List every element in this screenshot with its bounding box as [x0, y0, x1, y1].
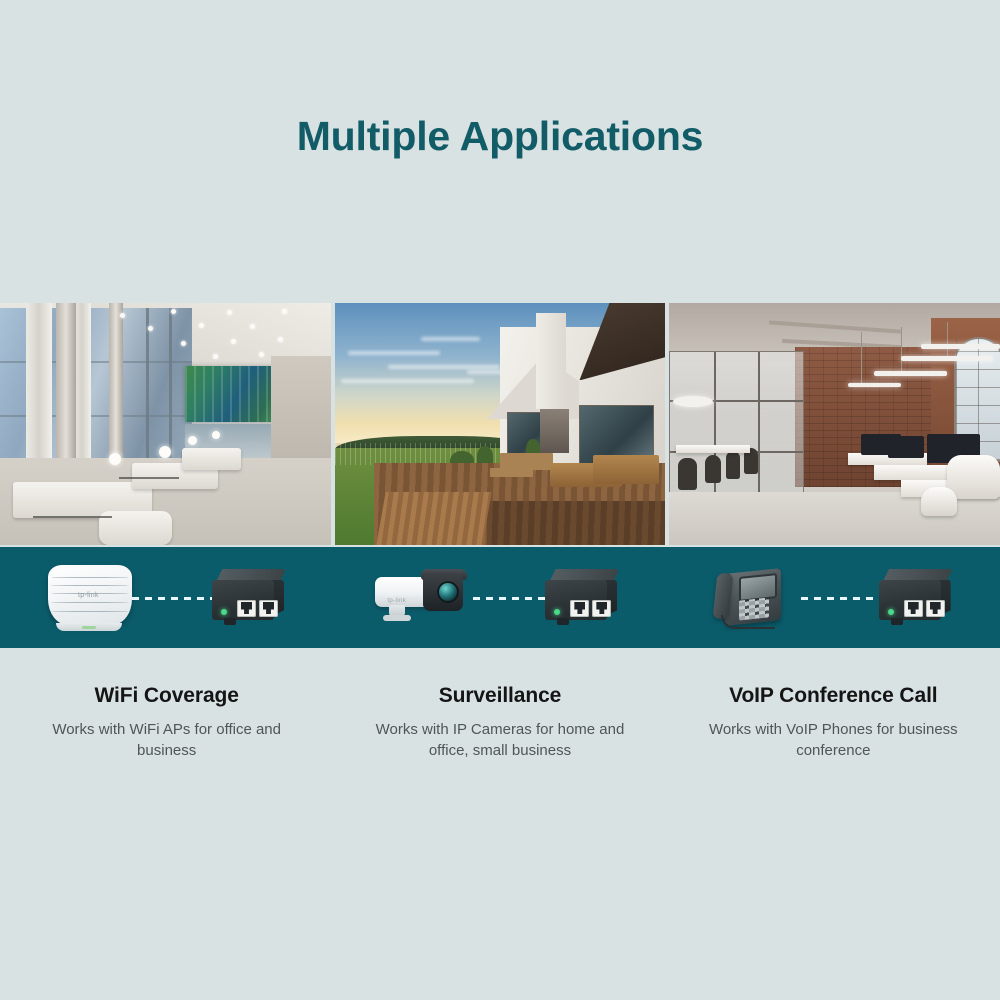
- rj45-port-out-1: [259, 600, 278, 617]
- caption-voip-conference-call: VoIP Conference Call Works with VoIP Pho…: [667, 648, 1000, 808]
- page-title: Multiple Applications: [0, 112, 1000, 161]
- poe-injector-3: [879, 569, 953, 623]
- ip-bullet-camera: tp-link: [375, 567, 471, 623]
- tp-link-logo-camera: tp-link: [387, 598, 406, 604]
- poe-power-led-2: [554, 609, 560, 615]
- caption-heading: VoIP Conference Call: [667, 684, 1000, 708]
- ap-status-led: [82, 626, 96, 629]
- glass-meeting-room: [669, 351, 803, 513]
- deck-steps: [376, 492, 491, 545]
- caption-surveillance: Surveillance Works with IP Cameras for h…: [333, 648, 666, 808]
- tp-link-logo-ap: tp-link: [78, 592, 102, 601]
- ethernet-link-3: [801, 597, 885, 600]
- caption-heading: WiFi Coverage: [0, 684, 333, 708]
- caption-body: Works with VoIP Phones for business conf…: [698, 720, 968, 761]
- caption-body: Works with IP Cameras for home and offic…: [365, 720, 635, 761]
- caption-body: Works with WiFi APs for office and busin…: [32, 720, 302, 761]
- deck-lower: [487, 501, 666, 545]
- caption-row: WiFi Coverage Works with WiFi APs for of…: [0, 648, 1000, 808]
- rj45-port-in-3: [904, 600, 923, 617]
- poe-injector-2: [545, 569, 619, 623]
- ethernet-link-1: [132, 597, 218, 600]
- caption-wifi-coverage: WiFi Coverage Works with WiFi APs for of…: [0, 648, 333, 808]
- lobby-ceiling-lights: [93, 308, 324, 390]
- house-deck-photo: [335, 303, 666, 545]
- ethernet-link-2: [473, 597, 551, 600]
- rj45-port-out-2: [592, 600, 611, 617]
- ceiling-wifi-access-point: tp-link: [48, 565, 132, 631]
- poe-power-led-3: [888, 609, 894, 615]
- rj45-port-in-2: [570, 600, 589, 617]
- diagram-ip-camera: tp-link: [333, 547, 666, 648]
- poe-injector-1: [212, 569, 286, 623]
- rj45-port-in-1: [237, 600, 256, 617]
- voip-desk-phone: [709, 565, 791, 629]
- phone-cord: [721, 615, 775, 629]
- rj45-port-out-3: [926, 600, 945, 617]
- poe-power-led-1: [221, 609, 227, 615]
- photo-strip: [0, 303, 1000, 545]
- chimney: [536, 313, 566, 410]
- diagram-wifi-ap: tp-link: [0, 547, 333, 648]
- loft-office-photo: [669, 303, 1000, 545]
- caption-heading: Surveillance: [333, 684, 666, 708]
- outdoor-fireplace: [540, 409, 570, 453]
- device-diagram-band: tp-link tp-link: [0, 547, 1000, 648]
- hotel-lobby-photo: [0, 303, 331, 545]
- diagram-voip-phone: [667, 547, 1000, 648]
